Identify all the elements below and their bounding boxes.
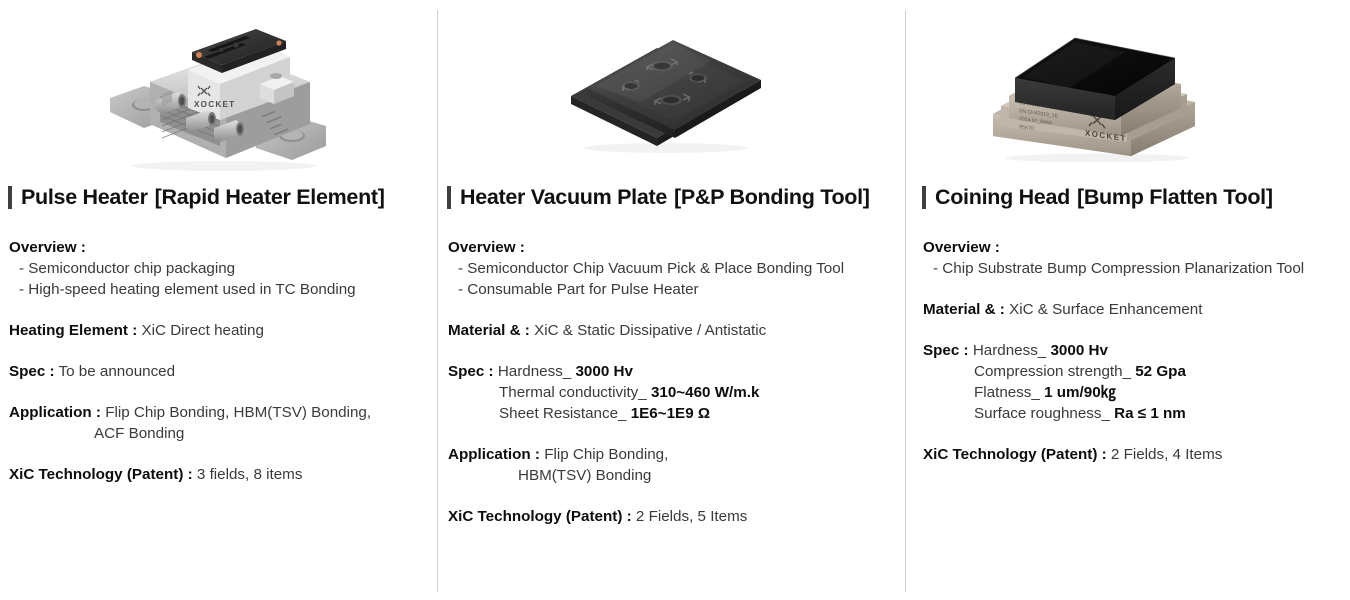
overview-label: Overview : [448,238,905,259]
overview-item: - High-speed heating element used in TC … [9,280,437,301]
application-block: Application : Flip Chip Bonding, HBM(TSV… [448,445,905,487]
title-marker-icon [447,186,451,209]
spec-label: Spec : [9,363,55,380]
heating-element-row: Heating Element : XiC Direct heating [9,321,437,342]
pulse-heater-image-area: XOCKET [0,0,437,176]
application-line: ACF Bonding [9,424,437,445]
material-row: Material & : XiC & Static Dissipative / … [448,321,905,342]
overview-block: Overview : - Chip Substrate Bump Compres… [923,238,1350,280]
overview-block: Overview : - Semiconductor chip packagin… [9,238,437,301]
material-label: Material & : [923,301,1005,318]
spec-line: Compression strength_ 52 Gpa [923,362,1350,383]
product-comparison-sheet: XOCKET [0,0,1350,600]
patent-row: XiC Technology (Patent) : 2 Fields, 5 It… [448,507,905,528]
overview-block: Overview : - Semiconductor Chip Vacuum P… [448,238,905,301]
spec-row: Spec : To be announced [9,362,437,383]
spec-line-value: Ra ≤ 1 nm [1114,405,1186,422]
spec-label: Spec : [448,363,494,380]
spec-line-name: Flatness_ [974,384,1044,401]
spec-line: Thermal conductivity_ 310~460 W/m.k [448,383,905,404]
overview-item: - Semiconductor Chip Vacuum Pick & Place… [448,259,905,280]
patent-row: XiC Technology (Patent) : 3 fields, 8 it… [9,465,437,486]
spec-line-name: Hardness_ [498,363,576,380]
spec-line-value: 3000 Hv [575,363,632,380]
heating-element-value: XiC Direct heating [142,322,264,339]
material-value: XiC & Surface Enhancement [1009,301,1202,318]
spec-line-value: 52 Gpa [1135,363,1186,380]
patent-value: 3 fields, 8 items [197,466,303,483]
spec-line-value: 3000 Hv [1050,342,1107,359]
patent-label: XiC Technology (Patent) : [923,446,1107,463]
material-label: Material & : [448,322,530,339]
patent-row: XiC Technology (Patent) : 2 Fields, 4 It… [923,445,1350,466]
heater-vacuum-plate-photo [561,22,781,157]
pulse-heater-spec-body: Overview : - Semiconductor chip packagin… [0,238,437,486]
page-title: Pulse Heater[Rapid Heater Element] [21,185,385,210]
title-marker-icon [922,186,926,209]
application-block: Application : Flip Chip Bonding, HBM(TSV… [9,403,437,445]
spec-line-name: Thermal conductivity_ [499,384,651,401]
material-value: XiC & Static Dissipative / Antistatic [534,322,766,339]
heater-vacuum-plate-image-area [437,0,905,176]
pulse-heater-title-row: Pulse Heater[Rapid Heater Element] [0,185,437,210]
patent-label: XiC Technology (Patent) : [9,466,193,483]
spec-line-value: 1 um/90㎏ [1044,384,1116,401]
patent-label: XiC Technology (Patent) : [448,508,632,525]
overview-label: Overview : [923,238,1350,259]
material-row: Material & : XiC & Surface Enhancement [923,300,1350,321]
heating-element-label: Heating Element : [9,322,137,339]
page-title: Coining Head[Bump Flatten Tool] [935,185,1273,210]
spec-line-name: Surface roughness_ [974,405,1114,422]
application-line: HBM(TSV) Bonding [448,466,905,487]
spec-value: To be announced [59,363,176,380]
application-label: Application : [448,446,540,463]
coining-head-photo: LOT.XXX4070005 SN.CH42019_1E 2024.07_RAW… [985,22,1235,162]
overview-item: - Chip Substrate Bump Compression Planar… [923,259,1350,280]
patent-value: 2 Fields, 5 Items [636,508,747,525]
spec-line-value: 1E6~1E9 Ω [631,405,710,422]
spec-line-name: Compression strength_ [974,363,1135,380]
coining-head-image-area: LOT.XXX4070005 SN.CH42019_1E 2024.07_RAW… [905,0,1350,176]
spec-line: Surface roughness_ Ra ≤ 1 nm [923,404,1350,425]
spec-line-name: Hardness_ [973,342,1051,359]
coining-head-spec-body: Overview : - Chip Substrate Bump Compres… [905,238,1350,466]
page-title: Heater Vacuum Plate[P&P Bonding Tool] [460,185,870,210]
patent-value: 2 Fields, 4 Items [1111,446,1222,463]
spec-line-value: 310~460 W/m.k [651,384,760,401]
overview-item: - Consumable Part for Pulse Heater [448,280,905,301]
spec-label: Spec : [923,342,969,359]
product-card-pulse-heater: XOCKET [0,0,437,600]
product-card-heater-vacuum-plate: Heater Vacuum Plate[P&P Bonding Tool] Ov… [437,0,905,600]
overview-item: - Semiconductor chip packaging [9,259,437,280]
application-line: Flip Chip Bonding, [544,446,668,463]
product-card-coining-head: LOT.XXX4070005 SN.CH42019_1E 2024.07_RAW… [905,0,1350,600]
coining-head-title-row: Coining Head[Bump Flatten Tool] [905,185,1350,210]
heater-vacuum-plate-title-row: Heater Vacuum Plate[P&P Bonding Tool] [437,185,905,210]
overview-label: Overview : [9,238,437,259]
pulse-heater-photo: XOCKET [104,12,334,172]
spec-line-name: Sheet Resistance_ [499,405,631,422]
title-marker-icon [8,186,12,209]
application-line: Flip Chip Bonding, HBM(TSV) Bonding, [105,404,371,421]
spec-line: Flatness_ 1 um/90㎏ [923,383,1350,404]
application-label: Application : [9,404,101,421]
heater-vacuum-plate-spec-body: Overview : - Semiconductor Chip Vacuum P… [437,238,905,528]
svg-text:XOCKET: XOCKET [194,100,235,109]
spec-block: Spec : Hardness_ 3000 Hv Compression str… [923,341,1350,425]
spec-block: Spec : Hardness_ 3000 Hv Thermal conduct… [448,362,905,425]
spec-line: Sheet Resistance_ 1E6~1E9 Ω [448,404,905,425]
